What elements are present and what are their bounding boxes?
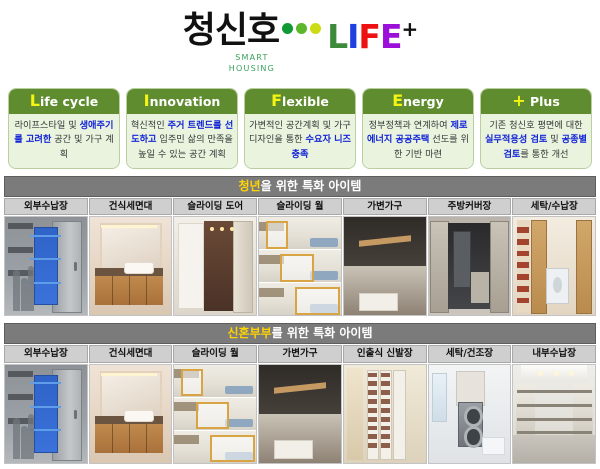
logo-inner: 청신호 SMART HOUSING LIFE+ <box>183 13 418 75</box>
pillar-title: + Plus <box>481 89 591 114</box>
pillar-description: 기존 청신호 평면에 대한 실무적용성 검토 및 공종별 검토를 통한 개선 <box>481 114 591 168</box>
column-header[interactable]: 슬라이딩 월 <box>258 198 342 216</box>
item-thumbnail[interactable] <box>428 216 512 316</box>
section-banner: 청년을 위한 특화 아이템 <box>4 176 596 197</box>
column-header[interactable]: 가변가구 <box>343 198 427 216</box>
pillar-card-lexible: Flexible가변적인 공간계획 및 가구디자인을 통한 수요자 니즈 충족 <box>244 88 356 169</box>
pillar-plain-text: 라이프스타일 및 <box>15 120 80 131</box>
item-thumbnail[interactable] <box>428 364 512 464</box>
thumbnail-row <box>4 216 596 316</box>
logo-tagline-line1: SMART <box>235 53 268 62</box>
pillar-title-rest: nnovation <box>150 94 221 109</box>
pillar-description: 정부정책과 연계하여 제로에너지 공공주택 선도를 위한 기반 마련 <box>363 114 473 168</box>
brand-name-korean: 청신호 <box>183 13 279 49</box>
pillar-title-rest: ife cycle <box>40 94 98 109</box>
column-header[interactable]: 주방커버장 <box>428 198 512 216</box>
item-thumbnail[interactable] <box>512 216 596 316</box>
column-header[interactable]: 슬라이딩 월 <box>173 345 257 363</box>
pillar-initial-letter: L <box>30 91 40 110</box>
pillar-title: Innovation <box>127 89 237 114</box>
pillar-card-nergy: Energy정부정책과 연계하여 제로에너지 공공주택 선도를 위한 기반 마련 <box>362 88 474 169</box>
item-thumbnail[interactable] <box>173 364 257 464</box>
pillar-description: 가변적인 공간계획 및 가구디자인을 통한 수요자 니즈 충족 <box>245 114 355 168</box>
column-header[interactable]: 슬라이딩 도어 <box>173 198 257 216</box>
sections-container: 청년을 위한 특화 아이템외부수납장건식세면대슬라이딩 도어슬라이딩 월가변가구… <box>0 176 600 464</box>
logo-tagline-line2: HOUSING <box>229 64 275 73</box>
column-header[interactable]: 건식세면대 <box>89 198 173 216</box>
feature-section: 신혼부부를 위한 특화 아이템외부수납장건식세면대슬라이딩 월가변가구인출식 신… <box>0 323 600 464</box>
logo-dot-dark-green-icon <box>282 23 293 34</box>
pillar-plain-text: 혁신적인 <box>131 120 168 131</box>
thumbnail-artwork <box>259 365 341 463</box>
section-banner-rest: 를 위한 특화 아이템 <box>272 326 373 340</box>
logo-dots-group <box>282 23 321 34</box>
pillar-title: Life cycle <box>9 89 119 114</box>
section-banner-highlight: 청년 <box>239 179 261 193</box>
pillar-card-plus: + Plus기존 청신호 평면에 대한 실무적용성 검토 및 공종별 검토를 통… <box>480 88 592 169</box>
column-header[interactable]: 내부수납장 <box>512 345 596 363</box>
thumbnail-artwork <box>174 217 256 315</box>
brand-logo-area: 청신호 SMART HOUSING LIFE+ <box>0 0 600 88</box>
pillar-cards-row: Life cycle라이프스타일 및 생애주기를 고려한 공간 및 가구 계획I… <box>0 88 600 169</box>
thumbnail-row <box>4 364 596 464</box>
column-header[interactable]: 세탁/수납장 <box>512 198 596 216</box>
logo-dot-lime-icon <box>310 23 321 34</box>
logo-korean-row: 청신호 <box>183 13 321 49</box>
pillar-plain-text: 정부정책과 연계하여 <box>369 120 451 131</box>
thumbnail-artwork <box>90 365 172 463</box>
column-header[interactable]: 가변가구 <box>258 345 342 363</box>
thumbnail-artwork <box>513 365 595 463</box>
column-header-row: 외부수납장건식세면대슬라이딩 월가변가구인출식 신발장세탁/건조장내부수납장 <box>4 345 596 363</box>
pillar-card-ife-cycle: Life cycle라이프스타일 및 생애주기를 고려한 공간 및 가구 계획 <box>8 88 120 169</box>
column-header[interactable]: 세탁/건조장 <box>428 345 512 363</box>
item-thumbnail[interactable] <box>343 364 427 464</box>
item-thumbnail[interactable] <box>343 216 427 316</box>
pillar-plain-text: 기존 청신호 평면에 대한 <box>489 120 582 131</box>
logo-life-plus: LIFE+ <box>327 19 417 53</box>
pillar-title-rest: nergy <box>403 94 444 109</box>
life-letter-l: L <box>327 17 347 56</box>
logo-dot-green-icon <box>296 23 307 34</box>
column-header[interactable]: 인출식 신발장 <box>343 345 427 363</box>
item-thumbnail[interactable] <box>512 364 596 464</box>
column-header[interactable]: 외부수납장 <box>4 345 88 363</box>
thumbnail-artwork <box>344 365 426 463</box>
life-letter-f: F <box>358 17 380 56</box>
pillar-title-rest: Plus <box>526 94 560 109</box>
pillar-card-nnovation: Innovation혁신적인 주거 트렌드를 선도하고 입주민 삶의 만족을 높… <box>126 88 238 169</box>
pillar-initial-letter: E <box>392 91 403 110</box>
pillar-initial-letter: F <box>271 91 282 110</box>
pillar-description: 혁신적인 주거 트렌드를 선도하고 입주민 삶의 만족을 높일 수 있는 공간 … <box>127 114 237 168</box>
thumbnail-artwork <box>174 365 256 463</box>
thumbnail-artwork <box>5 365 87 463</box>
pillar-plain-text: 를 통한 개선 <box>520 149 568 160</box>
pillar-title: Flexible <box>245 89 355 114</box>
item-thumbnail[interactable] <box>89 364 173 464</box>
item-thumbnail[interactable] <box>4 216 88 316</box>
section-banner: 신혼부부를 위한 특화 아이템 <box>4 323 596 344</box>
column-header[interactable]: 건식세면대 <box>89 345 173 363</box>
item-thumbnail[interactable] <box>89 216 173 316</box>
life-letter-i: I <box>347 17 358 56</box>
pillar-plain-text: 공간 및 가구 계획 <box>51 134 113 159</box>
pillar-initial-letter: + <box>512 91 525 110</box>
pillar-description: 라이프스타일 및 생애주기를 고려한 공간 및 가구 계획 <box>9 114 119 168</box>
thumbnail-artwork <box>513 217 595 315</box>
column-header-row: 외부수납장건식세면대슬라이딩 도어슬라이딩 월가변가구주방커버장세탁/수납장 <box>4 198 596 216</box>
section-banner-rest: 을 위한 특화 아이템 <box>261 179 362 193</box>
column-header[interactable]: 외부수납장 <box>4 198 88 216</box>
pillar-title: Energy <box>363 89 473 114</box>
thumbnail-artwork <box>259 217 341 315</box>
item-thumbnail[interactable] <box>173 216 257 316</box>
life-letter-e: E <box>380 17 402 56</box>
feature-section: 청년을 위한 특화 아이템외부수납장건식세면대슬라이딩 도어슬라이딩 월가변가구… <box>0 176 600 317</box>
item-thumbnail[interactable] <box>258 216 342 316</box>
pillar-plain-text: 및 <box>547 134 561 145</box>
thumbnail-artwork <box>344 217 426 315</box>
pillar-title-rest: lexible <box>282 94 329 109</box>
section-banner-highlight: 신혼부부 <box>227 326 271 340</box>
logo-korean-block: 청신호 SMART HOUSING <box>183 13 321 75</box>
life-plus-sign: + <box>402 17 418 41</box>
pillar-highlight-text: 실무적용성 검토 <box>485 134 547 145</box>
item-thumbnail[interactable] <box>4 364 88 464</box>
thumbnail-artwork <box>429 217 511 315</box>
logo-tagline: SMART HOUSING <box>229 53 275 75</box>
thumbnail-artwork <box>90 217 172 315</box>
item-thumbnail[interactable] <box>258 364 342 464</box>
thumbnail-artwork <box>429 365 511 463</box>
thumbnail-artwork <box>5 217 87 315</box>
